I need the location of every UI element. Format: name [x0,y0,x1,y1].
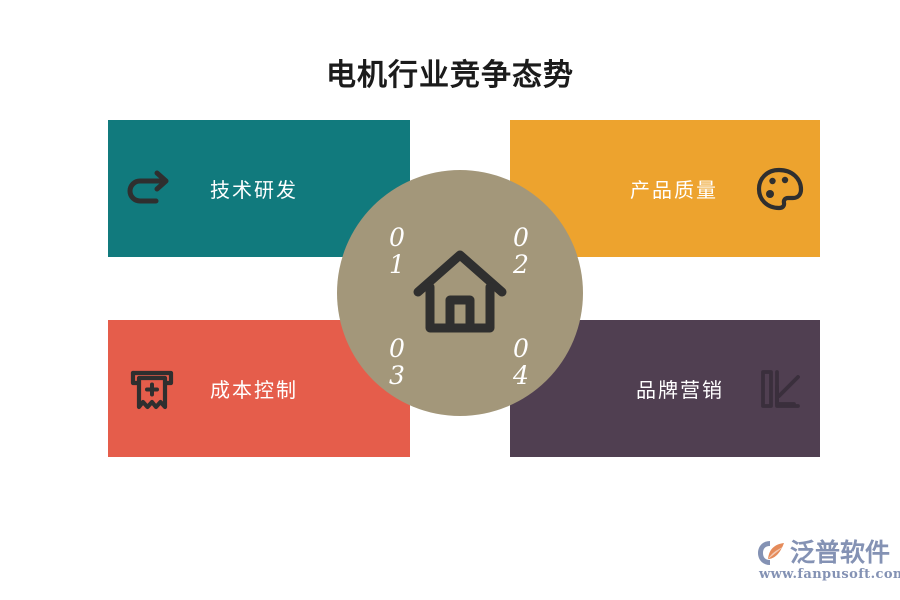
brand-logo[interactable]: 泛普软件 www.fanpusoft.com [757,537,893,587]
redo-arrow-icon [126,163,178,215]
palette-icon [754,163,806,215]
hub-number-03-bottom: 3 [383,362,411,389]
panel-label-brand-marketing: 品牌营销 [636,374,724,403]
hub-number-01: 0 1 [383,224,411,278]
hub-number-01-bottom: 1 [383,251,411,278]
logo-name: 泛普软件 [790,539,890,567]
medical-receipt-icon [126,363,178,415]
infographic-canvas: 电机行业竞争态势 技术研发 产品质量 [0,0,900,600]
hub-number-04: 0 4 [507,335,535,389]
panel-label-product-quality: 产品质量 [630,174,718,203]
panel-label-technology-rnd: 技术研发 [210,174,298,203]
bar-chart-down-arrow-icon [754,363,806,415]
hub-number-02-top: 0 [507,224,535,251]
logo-row: 泛普软件 [757,537,890,568]
hub-number-02: 0 2 [507,224,535,278]
hub-number-02-bottom: 2 [507,251,535,278]
fanpu-leaf-icon [757,539,787,567]
hub-number-04-top: 0 [507,335,535,362]
page-title: 电机行业竞争态势 [0,56,900,96]
panel-label-cost-control: 成本控制 [210,374,298,403]
center-hub-circle: 0 1 0 2 0 3 0 4 [337,170,583,416]
hub-number-03: 0 3 [383,335,411,389]
hub-number-03-top: 0 [383,335,411,362]
house-icon [412,245,508,341]
hub-number-01-top: 0 [383,224,411,251]
logo-url: www.fanpusoft.com [759,567,900,582]
hub-number-04-bottom: 4 [507,362,535,389]
